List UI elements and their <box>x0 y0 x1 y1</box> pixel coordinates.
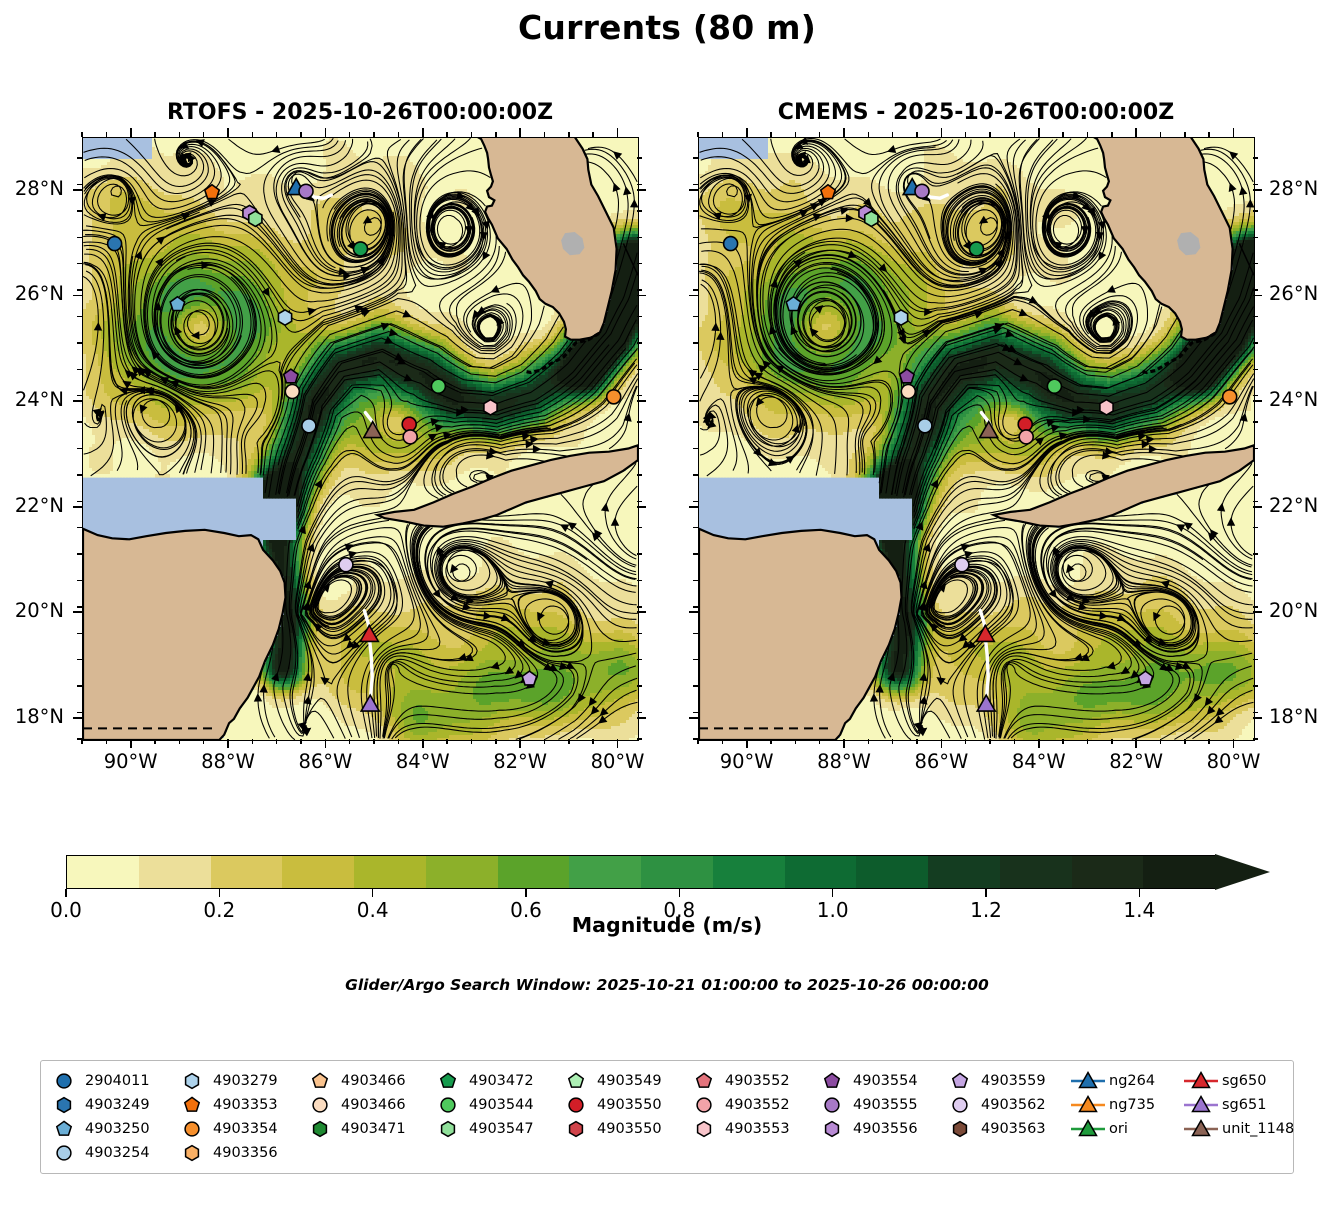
y-tickmark-right <box>637 295 646 297</box>
legend-marker-hexagon-icon <box>685 1118 723 1140</box>
colorbar-tickmark <box>1139 889 1141 897</box>
legend-item[interactable]: 4903563 <box>941 1117 1069 1141</box>
legend-marker-hexagon-icon <box>173 1070 211 1092</box>
legend-label: ng264 <box>1107 1073 1155 1089</box>
x-minor-tick-top <box>1111 132 1112 137</box>
legend-label: 4903471 <box>339 1121 406 1137</box>
x-minor-tick-top <box>1087 132 1088 137</box>
y-minor-tick-right <box>637 263 642 264</box>
y-tickmark-right <box>637 717 646 719</box>
x-minor-tick-top <box>106 132 107 137</box>
legend-item[interactable]: 4903354 <box>173 1117 301 1141</box>
map-panel-rtofs[interactable] <box>82 137 639 741</box>
marker-4903552[interactable] <box>403 430 417 444</box>
legend-label: 4903472 <box>467 1073 534 1089</box>
x-minor-tick-top <box>989 132 990 137</box>
legend-label: 4903555 <box>851 1097 918 1113</box>
legend-item[interactable]: 4903562 <box>941 1093 1069 1117</box>
x-tickmark-top <box>325 128 327 137</box>
colorbar-swatch-6 <box>498 856 570 888</box>
legend-label: ng735 <box>1107 1097 1155 1113</box>
x-minor-tick <box>819 739 820 744</box>
y-ticklabel-left: 28°N <box>0 177 64 200</box>
x-minor-tick-top <box>81 132 82 137</box>
y-tickmark-right <box>1253 717 1262 719</box>
legend-label: 4903562 <box>979 1097 1046 1113</box>
colorbar-swatch-9 <box>713 856 785 888</box>
y-tickmark <box>689 506 698 508</box>
legend-marker-circle-icon <box>813 1094 851 1116</box>
y-minor-tick-right <box>637 501 642 502</box>
y-tickmark <box>73 611 82 613</box>
x-tickmark-top <box>130 128 132 137</box>
y-minor-tick-right <box>1253 395 1258 396</box>
marker-4903553[interactable] <box>1100 400 1113 415</box>
legend-marker-circle-icon <box>557 1094 595 1116</box>
y-minor-tick-right <box>1253 289 1258 290</box>
x-tickmark <box>227 739 229 748</box>
x-tickmark-top <box>617 128 619 137</box>
legend-marker-hexagon-icon <box>429 1118 467 1140</box>
marker-4903249[interactable] <box>724 237 738 251</box>
x-minor-tick-top <box>471 132 472 137</box>
y-minor-tick-right <box>637 553 642 554</box>
legend-item[interactable]: ng735 <box>1069 1093 1182 1117</box>
marker-4903550[interactable] <box>1018 417 1032 431</box>
legend-marker-circle-icon <box>685 1094 723 1116</box>
legend-label: 4903549 <box>595 1073 662 1089</box>
legend-item[interactable]: 4903555 <box>813 1093 941 1117</box>
y-tickmark <box>689 400 698 402</box>
x-minor-tick <box>544 739 545 744</box>
y-minor-tick-right <box>637 395 642 396</box>
legend-item[interactable]: 4903466 <box>301 1069 429 1093</box>
legend-marker-circle-icon <box>301 1094 339 1116</box>
x-minor-tick-top <box>892 132 893 137</box>
x-minor-tick <box>1111 739 1112 744</box>
x-minor-tick-top <box>592 132 593 137</box>
x-tickmark <box>130 739 132 748</box>
x-tickmark <box>617 739 619 748</box>
figure-title: Currents (80 m) <box>0 8 1334 47</box>
colorbar-swatch-2 <box>211 856 283 888</box>
y-minor-tick-right <box>1253 316 1258 317</box>
y-minor-tick <box>77 210 82 211</box>
marker-4903279[interactable] <box>894 310 907 325</box>
x-minor-tick <box>1160 739 1161 744</box>
y-tickmark-right <box>1253 189 1262 191</box>
y-minor-tick-right <box>1253 263 1258 264</box>
x-minor-tick <box>965 739 966 744</box>
colorbar-swatch-4 <box>354 856 426 888</box>
x-tickmark <box>1233 739 1235 748</box>
colorbar-tickmark <box>65 889 67 897</box>
x-minor-tick <box>989 739 990 744</box>
y-minor-tick <box>77 553 82 554</box>
y-minor-tick-right <box>637 342 642 343</box>
legend-item[interactable]: 4903471 <box>301 1117 429 1141</box>
y-minor-tick-right <box>1253 157 1258 158</box>
y-minor-tick <box>693 448 698 449</box>
y-minor-tick <box>693 501 698 502</box>
x-minor-tick <box>1208 739 1209 744</box>
x-minor-tick-top <box>819 132 820 137</box>
y-tickmark-right <box>1253 506 1262 508</box>
marker-4903547[interactable] <box>249 211 262 226</box>
x-minor-tick-top <box>252 132 253 137</box>
legend-label: 4903249 <box>83 1097 150 1113</box>
marker-4903466[interactable] <box>901 385 915 399</box>
marker-4903553[interactable] <box>484 400 497 415</box>
marker-4903354[interactable] <box>1223 390 1237 404</box>
x-tickmark <box>422 739 424 748</box>
marker-4903550[interactable] <box>402 417 416 431</box>
y-minor-tick <box>77 580 82 581</box>
y-minor-tick <box>77 289 82 290</box>
y-minor-tick-right <box>637 289 642 290</box>
colorbar-swatch-5 <box>426 856 498 888</box>
marker-4903254[interactable] <box>302 419 316 433</box>
x-minor-tick <box>892 739 893 744</box>
colorbar-swatch-7 <box>569 856 641 888</box>
y-minor-tick-right <box>637 237 642 238</box>
marker-4903555[interactable] <box>299 184 313 198</box>
legend-item[interactable]: 4903279 <box>173 1069 301 1093</box>
x-minor-tick-top <box>568 132 569 137</box>
x-minor-tick <box>106 739 107 744</box>
y-ticklabel-left: 24°N <box>0 388 64 411</box>
y-minor-tick-right <box>1253 501 1258 502</box>
legend-marker-triangle-line-icon <box>1069 1118 1107 1140</box>
marker-4903254[interactable] <box>918 419 932 433</box>
y-minor-tick-right <box>1253 342 1258 343</box>
marker-4903552[interactable] <box>1019 430 1033 444</box>
x-minor-tick-top <box>203 132 204 137</box>
x-minor-tick <box>722 739 723 744</box>
colorbar-tickmark <box>525 889 527 897</box>
x-minor-tick-top <box>795 132 796 137</box>
x-minor-tick-top <box>770 132 771 137</box>
legend-marker-hexagon-icon <box>173 1142 211 1164</box>
y-minor-tick <box>693 395 698 396</box>
map-panel-cmems[interactable] <box>698 137 1255 741</box>
y-tickmark-right <box>637 506 646 508</box>
x-tickmark <box>325 739 327 748</box>
y-minor-tick <box>77 659 82 660</box>
legend-marker-triangle-line-icon <box>1182 1094 1220 1116</box>
y-minor-tick-right <box>1253 184 1258 185</box>
x-tickmark-top <box>843 128 845 137</box>
colorbar-swatch-3 <box>282 856 354 888</box>
x-tickmark <box>519 739 521 748</box>
legend-item[interactable]: 4903547 <box>429 1117 557 1141</box>
y-tickmark <box>689 717 698 719</box>
y-ticklabel-right: 28°N <box>1269 177 1334 200</box>
x-minor-tick <box>252 739 253 744</box>
marker-4903279[interactable] <box>278 310 291 325</box>
x-ticklabel: 90°W <box>702 750 792 773</box>
colorbar-swatch-1 <box>139 856 211 888</box>
marker-4903472[interactable] <box>970 242 984 256</box>
y-minor-tick-right <box>637 316 642 317</box>
y-minor-tick <box>693 184 698 185</box>
colorbar-swatch-12 <box>928 856 1000 888</box>
y-ticklabel-left: 22°N <box>0 494 64 517</box>
legend-marker-hexagon-icon <box>45 1094 83 1116</box>
legend-item[interactable]: 4903254 <box>45 1141 173 1165</box>
legend-label: 4903254 <box>83 1145 150 1161</box>
x-minor-tick-top <box>1014 132 1015 137</box>
legend-label: 4903466 <box>339 1097 406 1113</box>
y-minor-tick <box>77 395 82 396</box>
y-minor-tick <box>77 685 82 686</box>
legend-label: sg650 <box>1220 1073 1266 1089</box>
colorbar-swatch-8 <box>641 856 713 888</box>
y-minor-tick <box>693 421 698 422</box>
legend-item[interactable]: 4903550 <box>557 1117 685 1141</box>
y-minor-tick-right <box>637 210 642 211</box>
y-minor-tick-right <box>637 474 642 475</box>
y-minor-tick <box>77 606 82 607</box>
x-minor-tick <box>868 739 869 744</box>
legend-marker-circle-icon <box>45 1142 83 1164</box>
x-minor-tick-top <box>697 132 698 137</box>
y-minor-tick <box>693 263 698 264</box>
x-minor-tick-top <box>349 132 350 137</box>
marker-4903249[interactable] <box>108 237 122 251</box>
legend-marker-pentagon-icon <box>941 1070 979 1092</box>
y-minor-tick-right <box>637 606 642 607</box>
legend-item[interactable]: sg651 <box>1182 1093 1310 1117</box>
y-ticklabel-left: 18°N <box>0 705 64 728</box>
colorbar-swatch-10 <box>785 856 857 888</box>
legend-item[interactable]: 2904011 <box>45 1069 173 1093</box>
y-minor-tick <box>77 474 82 475</box>
y-minor-tick <box>693 289 698 290</box>
y-minor-tick-right <box>637 527 642 528</box>
colorbar-tickmark <box>372 889 374 897</box>
colorbar-extend-arrow <box>1215 854 1270 890</box>
legend-marker-circle-icon <box>45 1070 83 1092</box>
x-minor-tick <box>592 739 593 744</box>
y-minor-tick-right <box>1253 210 1258 211</box>
marker-4903547[interactable] <box>865 211 878 226</box>
x-minor-tick-top <box>373 132 374 137</box>
legend-marker-pentagon-icon <box>813 1070 851 1092</box>
colorbar-swatch-14 <box>1072 856 1144 888</box>
y-ticklabel-left: 26°N <box>0 282 64 305</box>
x-tickmark-top <box>227 128 229 137</box>
x-tickmark <box>1038 739 1040 748</box>
x-minor-tick-top <box>276 132 277 137</box>
legend-item[interactable]: 4903552 <box>685 1069 813 1093</box>
y-minor-tick-right <box>1253 448 1258 449</box>
x-minor-tick <box>276 739 277 744</box>
marker-4903466[interactable] <box>285 385 299 399</box>
y-minor-tick-right <box>637 712 642 713</box>
y-minor-tick-right <box>1253 659 1258 660</box>
y-minor-tick <box>693 580 698 581</box>
legend-marker-triangle-line-icon <box>1182 1070 1220 1092</box>
x-tickmark <box>941 739 943 748</box>
y-minor-tick <box>77 501 82 502</box>
x-minor-tick-top <box>495 132 496 137</box>
y-minor-tick <box>77 527 82 528</box>
y-minor-tick <box>693 606 698 607</box>
x-tickmark <box>1135 739 1137 748</box>
legend-label: 4903552 <box>723 1097 790 1113</box>
x-minor-tick-top <box>446 132 447 137</box>
legend-item[interactable]: 4903249 <box>45 1093 173 1117</box>
x-minor-tick-top <box>544 132 545 137</box>
y-minor-tick <box>77 263 82 264</box>
y-tickmark <box>73 506 82 508</box>
y-ticklabel-right: 24°N <box>1269 388 1334 411</box>
search-window-note: Glider/Argo Search Window: 2025-10-21 01… <box>0 976 1334 994</box>
x-tickmark <box>843 739 845 748</box>
x-ticklabel: 82°W <box>1091 750 1181 773</box>
legend-item[interactable]: 4903549 <box>557 1069 685 1093</box>
legend-item[interactable]: unit_1148 <box>1182 1117 1310 1141</box>
colorbar-swatches <box>66 855 1216 889</box>
y-minor-tick <box>693 316 698 317</box>
y-ticklabel-right: 26°N <box>1269 282 1334 305</box>
legend-label: 4903466 <box>339 1073 406 1089</box>
x-minor-tick-top <box>965 132 966 137</box>
legend-label: 4903559 <box>979 1073 1046 1089</box>
x-minor-tick <box>349 739 350 744</box>
y-minor-tick <box>693 342 698 343</box>
legend-item[interactable]: sg650 <box>1182 1069 1310 1093</box>
y-tickmark-right <box>637 189 646 191</box>
y-minor-tick <box>77 369 82 370</box>
legend-item[interactable]: 4903544 <box>429 1093 557 1117</box>
x-ticklabel: 86°W <box>280 750 370 773</box>
legend-item[interactable]: 4903556 <box>813 1117 941 1141</box>
legend-item[interactable]: 4903559 <box>941 1069 1069 1093</box>
colorbar-tickmark <box>679 889 681 897</box>
y-minor-tick <box>693 527 698 528</box>
x-tickmark <box>746 739 748 748</box>
legend-label: 4903552 <box>723 1073 790 1089</box>
x-minor-tick-top <box>868 132 869 137</box>
figure-canvas: Currents (80 m) RTOFS - 2025-10-26T00:00… <box>0 0 1334 1231</box>
legend-marker-pentagon-icon <box>685 1070 723 1092</box>
marker-4903472[interactable] <box>354 242 368 256</box>
colorbar-tickmark <box>219 889 221 897</box>
marker-4903555[interactable] <box>915 184 929 198</box>
legend-marker-circle-icon <box>429 1094 467 1116</box>
y-minor-tick-right <box>1253 580 1258 581</box>
legend-label: 4903547 <box>467 1121 534 1137</box>
legend-marker-pentagon-icon <box>557 1070 595 1092</box>
x-minor-tick <box>471 739 472 744</box>
legend-item[interactable]: 4903472 <box>429 1069 557 1093</box>
x-minor-tick <box>1014 739 1015 744</box>
x-tickmark-top <box>1135 128 1137 137</box>
y-minor-tick-right <box>637 685 642 686</box>
colorbar[interactable] <box>66 855 1268 889</box>
y-minor-tick-right <box>1253 738 1258 739</box>
y-tickmark <box>73 400 82 402</box>
y-minor-tick-right <box>1253 553 1258 554</box>
legend-item[interactable]: 4903550 <box>557 1093 685 1117</box>
legend-item[interactable]: 4903353 <box>173 1093 301 1117</box>
colorbar-swatch-13 <box>1000 856 1072 888</box>
x-minor-tick-top <box>1208 132 1209 137</box>
legend-label: 4903556 <box>851 1121 918 1137</box>
marker-4903544[interactable] <box>431 379 445 393</box>
x-minor-tick <box>203 739 204 744</box>
x-minor-tick <box>916 739 917 744</box>
y-minor-tick-right <box>637 580 642 581</box>
legend-item[interactable]: ng264 <box>1069 1069 1182 1093</box>
y-minor-tick <box>693 712 698 713</box>
y-tickmark-right <box>1253 295 1262 297</box>
legend-item[interactable]: 4903552 <box>685 1093 813 1117</box>
y-minor-tick-right <box>637 633 642 634</box>
y-minor-tick <box>693 738 698 739</box>
x-tickmark-top <box>1038 128 1040 137</box>
legend-label: 4903553 <box>723 1121 790 1137</box>
legend-item[interactable]: 4903250 <box>45 1117 173 1141</box>
y-tickmark <box>689 611 698 613</box>
marker-4903544[interactable] <box>1047 379 1061 393</box>
x-minor-tick <box>795 739 796 744</box>
legend-item[interactable]: 4903356 <box>173 1141 301 1165</box>
x-ticklabel: 80°W <box>573 750 663 773</box>
legend-item[interactable]: 4903466 <box>301 1093 429 1117</box>
y-minor-tick <box>77 342 82 343</box>
y-ticklabel-right: 22°N <box>1269 494 1334 517</box>
legend-marker-triangle-line-icon <box>1069 1070 1107 1092</box>
legend-label: 4903550 <box>595 1121 662 1137</box>
x-ticklabel: 84°W <box>378 750 468 773</box>
legend-item[interactable]: 4903554 <box>813 1069 941 1093</box>
marker-4903562[interactable] <box>955 558 969 572</box>
y-tickmark-right <box>1253 400 1262 402</box>
map-canvas-cmems <box>699 138 1254 740</box>
legend-item[interactable]: ori <box>1069 1117 1182 1141</box>
x-minor-tick <box>697 739 698 744</box>
y-minor-tick <box>77 157 82 158</box>
x-minor-tick <box>495 739 496 744</box>
marker-4903354[interactable] <box>607 390 621 404</box>
legend-item[interactable]: 4903553 <box>685 1117 813 1141</box>
legend-grid: 2904011490324949032504903254490327949033… <box>45 1069 1289 1165</box>
marker-4903562[interactable] <box>339 558 353 572</box>
x-minor-tick-top <box>179 132 180 137</box>
x-minor-tick <box>398 739 399 744</box>
x-minor-tick <box>1062 739 1063 744</box>
y-ticklabel-right: 20°N <box>1269 599 1334 622</box>
x-ticklabel: 84°W <box>994 750 1084 773</box>
y-minor-tick <box>693 369 698 370</box>
legend-label: 4903354 <box>211 1121 278 1137</box>
x-minor-tick <box>1184 739 1185 744</box>
legend-box[interactable]: 2904011490324949032504903254490327949033… <box>40 1060 1294 1174</box>
x-ticklabel: 88°W <box>799 750 889 773</box>
x-minor-tick <box>154 739 155 744</box>
x-minor-tick-top <box>916 132 917 137</box>
colorbar-label: Magnitude (m/s) <box>0 913 1334 937</box>
y-minor-tick <box>693 157 698 158</box>
y-tickmark <box>689 189 698 191</box>
y-minor-tick-right <box>1253 712 1258 713</box>
x-ticklabel: 88°W <box>183 750 273 773</box>
y-minor-tick-right <box>1253 527 1258 528</box>
y-minor-tick-right <box>1253 474 1258 475</box>
